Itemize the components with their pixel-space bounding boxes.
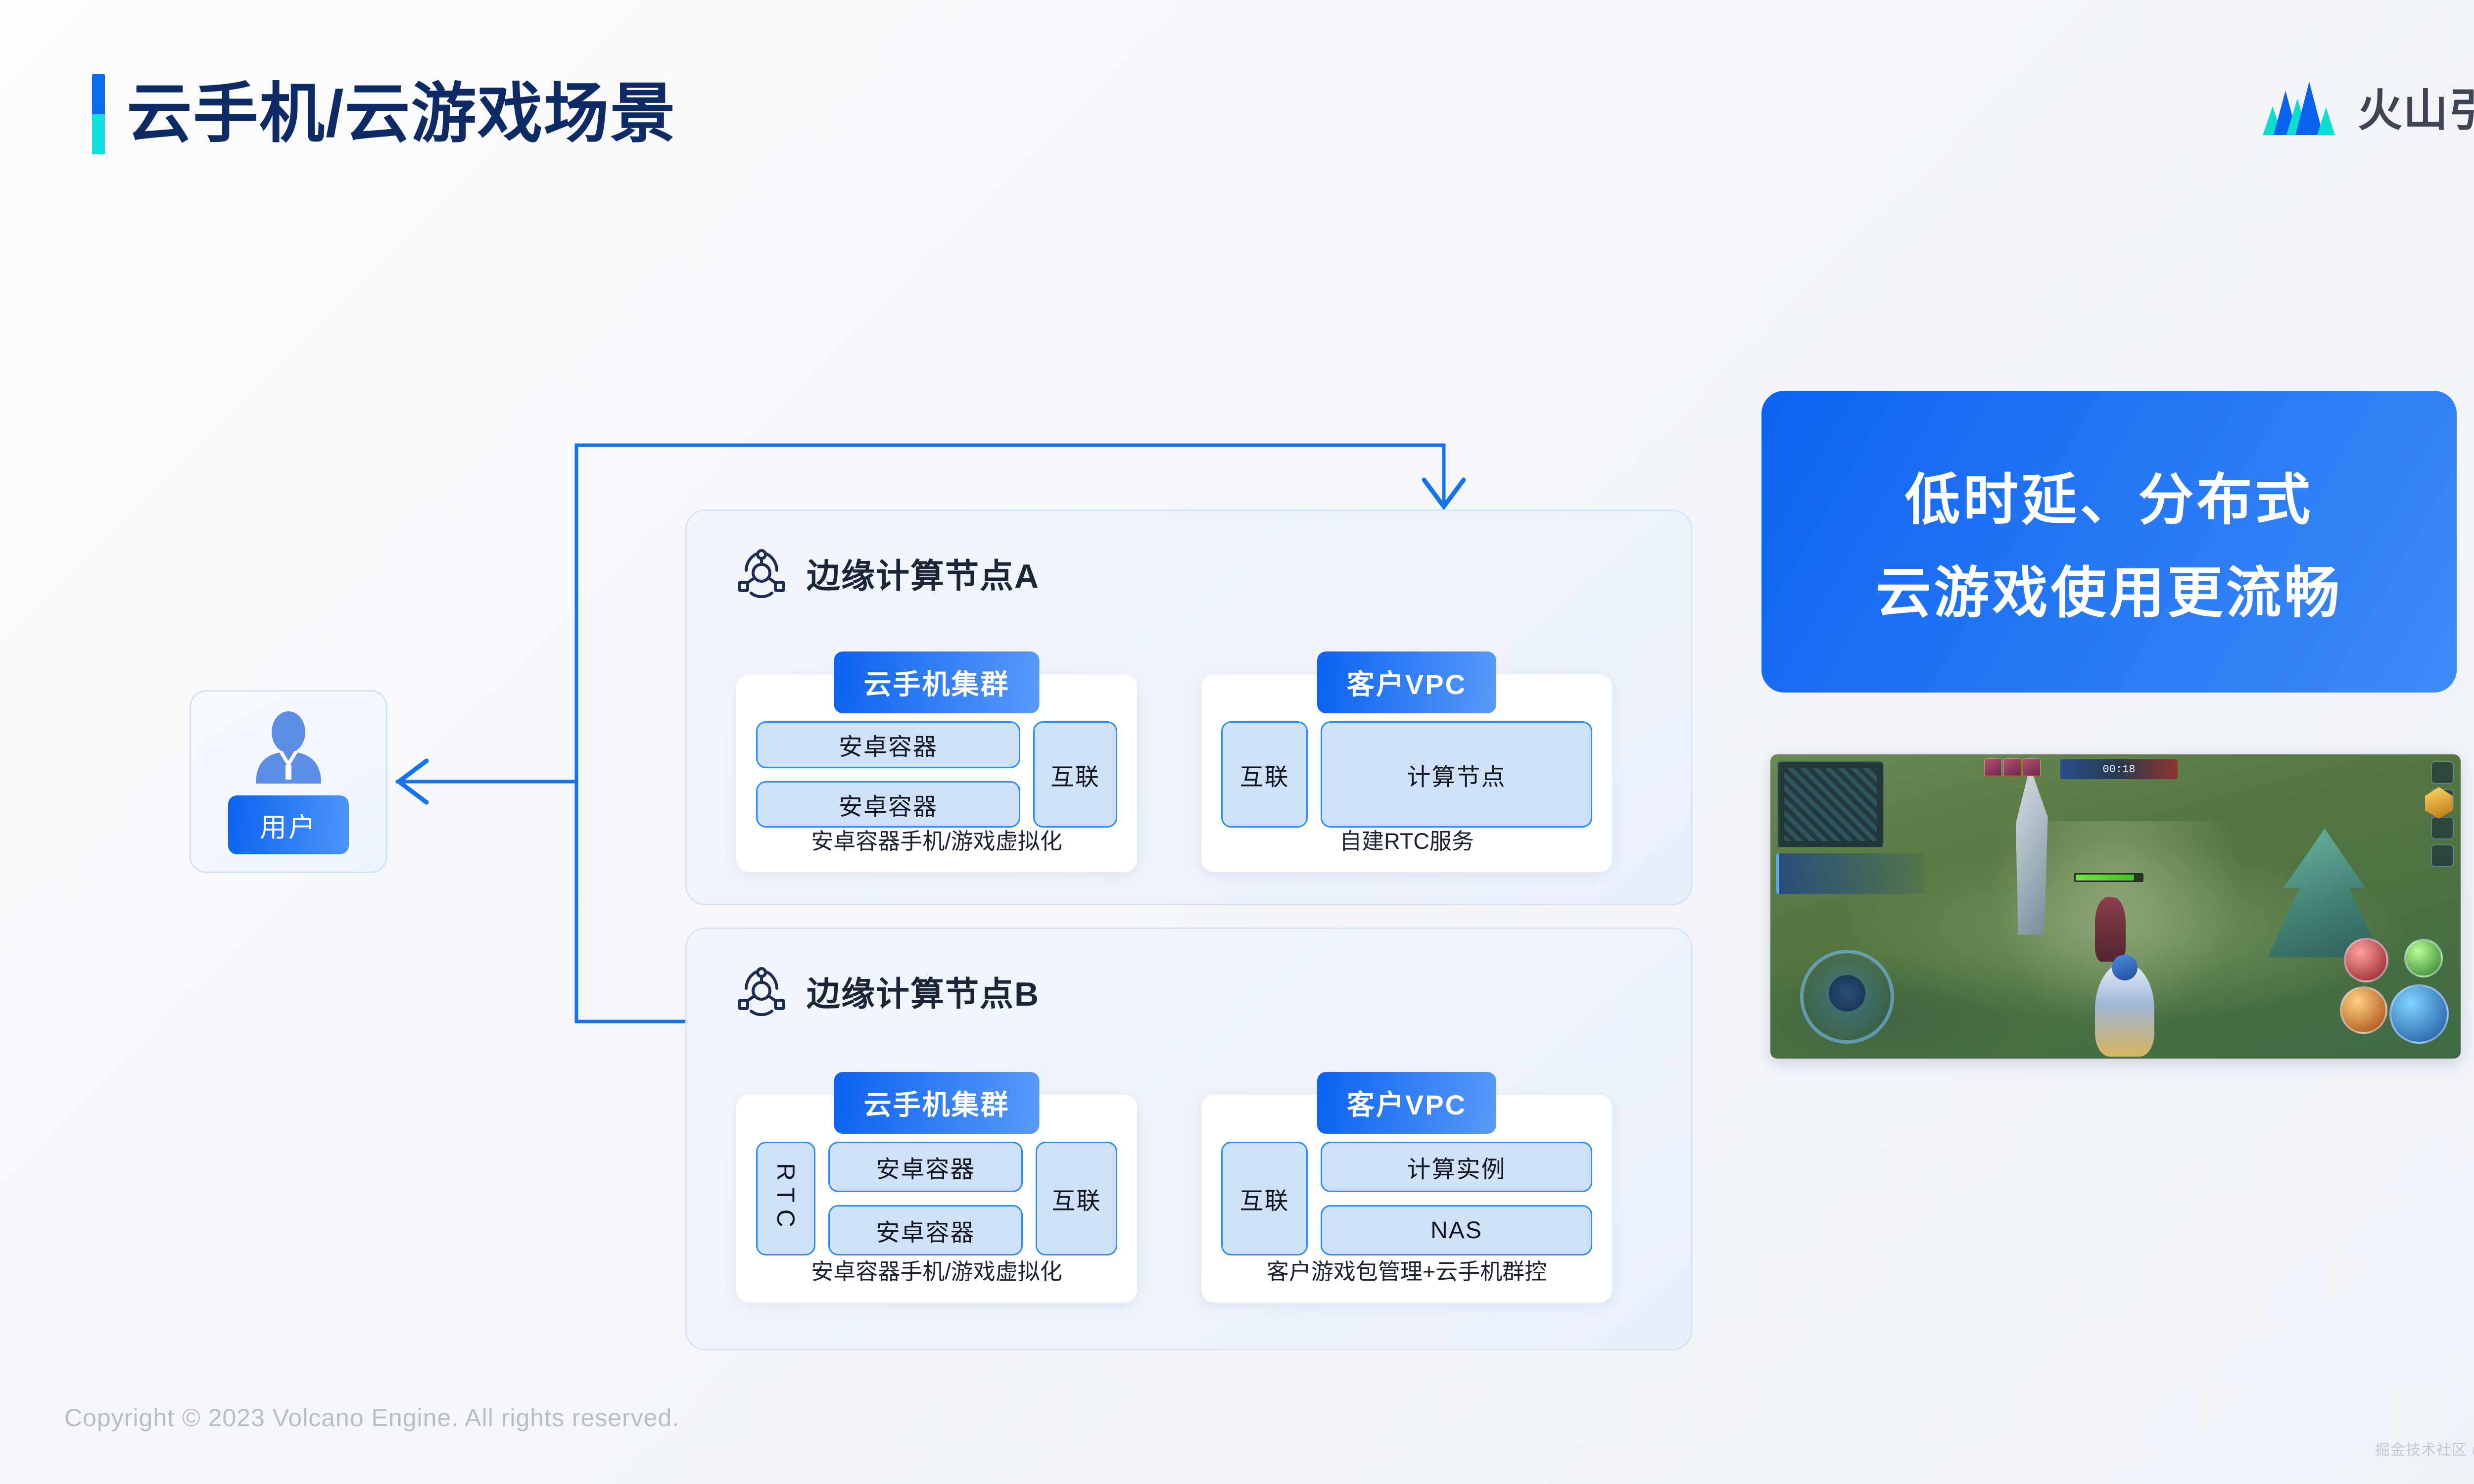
user-avatar-icon — [247, 709, 330, 784]
title-accent-bar — [92, 74, 105, 154]
brand-name: 火山引擎 — [2358, 74, 2474, 139]
customer-vpc-a: 客户VPC 互联 计算节点 自建RTC服务 — [1201, 674, 1612, 872]
customer-vpc-b: 客户VPC 互联 计算实例 NAS 客户游戏包管理+云手机群控 — [1201, 1095, 1612, 1302]
brand-lockup: 火山引擎 — [2254, 74, 2474, 139]
copyright-text: Copyright © 2023 Volcano Engine. All rig… — [64, 1403, 679, 1432]
game-skill-4 — [2404, 939, 2443, 977]
vpc-a-badge: 客户VPC — [1317, 651, 1496, 713]
user-label-chip: 用户 — [228, 795, 349, 854]
accent-top-segment — [92, 74, 105, 114]
vpc-b-badge: 客户VPC — [1317, 1072, 1496, 1134]
interconnect-tile[interactable]: 互联 — [1036, 1142, 1117, 1255]
vpc-b-caption: 客户游戏包管理+云手机群控 — [1201, 1253, 1612, 1286]
game-skill-primary — [2389, 984, 2449, 1044]
cluster-b-badge: 云手机集群 — [834, 1072, 1040, 1134]
game-minimap — [1777, 761, 1884, 848]
highlight-line-2: 云游戏使用更流畅 — [1876, 548, 2343, 628]
vpc-a-caption: 自建RTC服务 — [1201, 823, 1612, 855]
node-a-header: 边缘计算节点A — [736, 548, 1040, 598]
rtc-tile[interactable]: RTC — [756, 1142, 815, 1255]
nas-tile[interactable]: NAS — [1321, 1205, 1592, 1255]
page-header: 云手机/云游戏场景 火山引擎 — [0, 0, 2474, 163]
compute-node-tile[interactable]: 计算节点 — [1321, 721, 1592, 828]
cluster-a-caption: 安卓容器手机/游戏虚拟化 — [736, 823, 1137, 855]
game-hero-character — [2095, 963, 2154, 1057]
game-joystick — [1800, 950, 1894, 1044]
title-block: 云手机/云游戏场景 — [92, 74, 676, 154]
highlight-card: 低时延、分布式 云游戏使用更流畅 — [1761, 391, 2457, 693]
game-score-timer: 00:18 — [2060, 759, 2178, 779]
cloud-phone-cluster-a: 云手机集群 安卓容器 安卓容器 互联 安卓容器手机/游戏虚拟化 — [736, 674, 1137, 872]
node-b-title: 边缘计算节点B — [807, 967, 1040, 1016]
page-title: 云手机/云游戏场景 — [127, 74, 676, 154]
android-container-tile[interactable]: 安卓容器 — [828, 1142, 1023, 1192]
node-a-title: 边缘计算节点A — [807, 549, 1040, 598]
interconnect-tile[interactable]: 互联 — [1221, 721, 1308, 828]
game-tip-banner — [1776, 853, 1925, 894]
cloud-phone-cluster-b: 云手机集群 RTC 安卓容器 安卓容器 互联 安卓容器手机/游戏虚拟化 — [736, 1095, 1137, 1302]
edge-node-a-panel: 边缘计算节点A 云手机集群 安卓容器 安卓容器 互联 安卓容器手机/游戏虚拟化 … — [685, 510, 1692, 905]
android-container-tile[interactable]: 安卓容器 — [756, 781, 1020, 828]
game-minion — [2095, 897, 2126, 962]
edge-node-topology-icon — [736, 548, 787, 598]
highlight-line-1: 低时延、分布式 — [1905, 455, 2314, 535]
android-container-tile[interactable]: 安卓容器 — [756, 721, 1020, 768]
game-hero-portraits — [1984, 758, 2041, 776]
volcano-mountain-logo-icon — [2254, 77, 2338, 136]
interconnect-tile[interactable]: 互联 — [1221, 1142, 1308, 1255]
node-b-header: 边缘计算节点B — [736, 966, 1040, 1016]
accent-bottom-segment — [92, 114, 105, 154]
game-skill-3 — [2344, 938, 2388, 982]
game-skill-2 — [2340, 986, 2387, 1034]
cloud-game-screenshot: 00:18 — [1770, 754, 2461, 1059]
cluster-b-caption: 安卓容器手机/游戏虚拟化 — [736, 1253, 1137, 1286]
interconnect-tile[interactable]: 互联 — [1033, 721, 1117, 828]
user-card[interactable]: 用户 — [190, 690, 387, 873]
game-skill-buttons — [2288, 928, 2452, 1047]
compute-instance-tile[interactable]: 计算实例 — [1321, 1142, 1592, 1192]
architecture-diagram: 用户 边缘计算节点A 云手机集 — [0, 163, 1761, 1321]
android-container-tile[interactable]: 安卓容器 — [828, 1205, 1023, 1255]
edge-node-b-panel: 边缘计算节点B 云手机集群 RTC 安卓容器 安卓容器 互联 安卓容器手机/游戏… — [685, 927, 1692, 1350]
watermark-text: 掘金技术社区 @ 火山引擎边缘云 — [2375, 1438, 2474, 1459]
cluster-a-badge: 云手机集群 — [834, 651, 1040, 713]
game-health-bar — [2074, 873, 2143, 882]
edge-node-topology-icon — [736, 966, 787, 1016]
